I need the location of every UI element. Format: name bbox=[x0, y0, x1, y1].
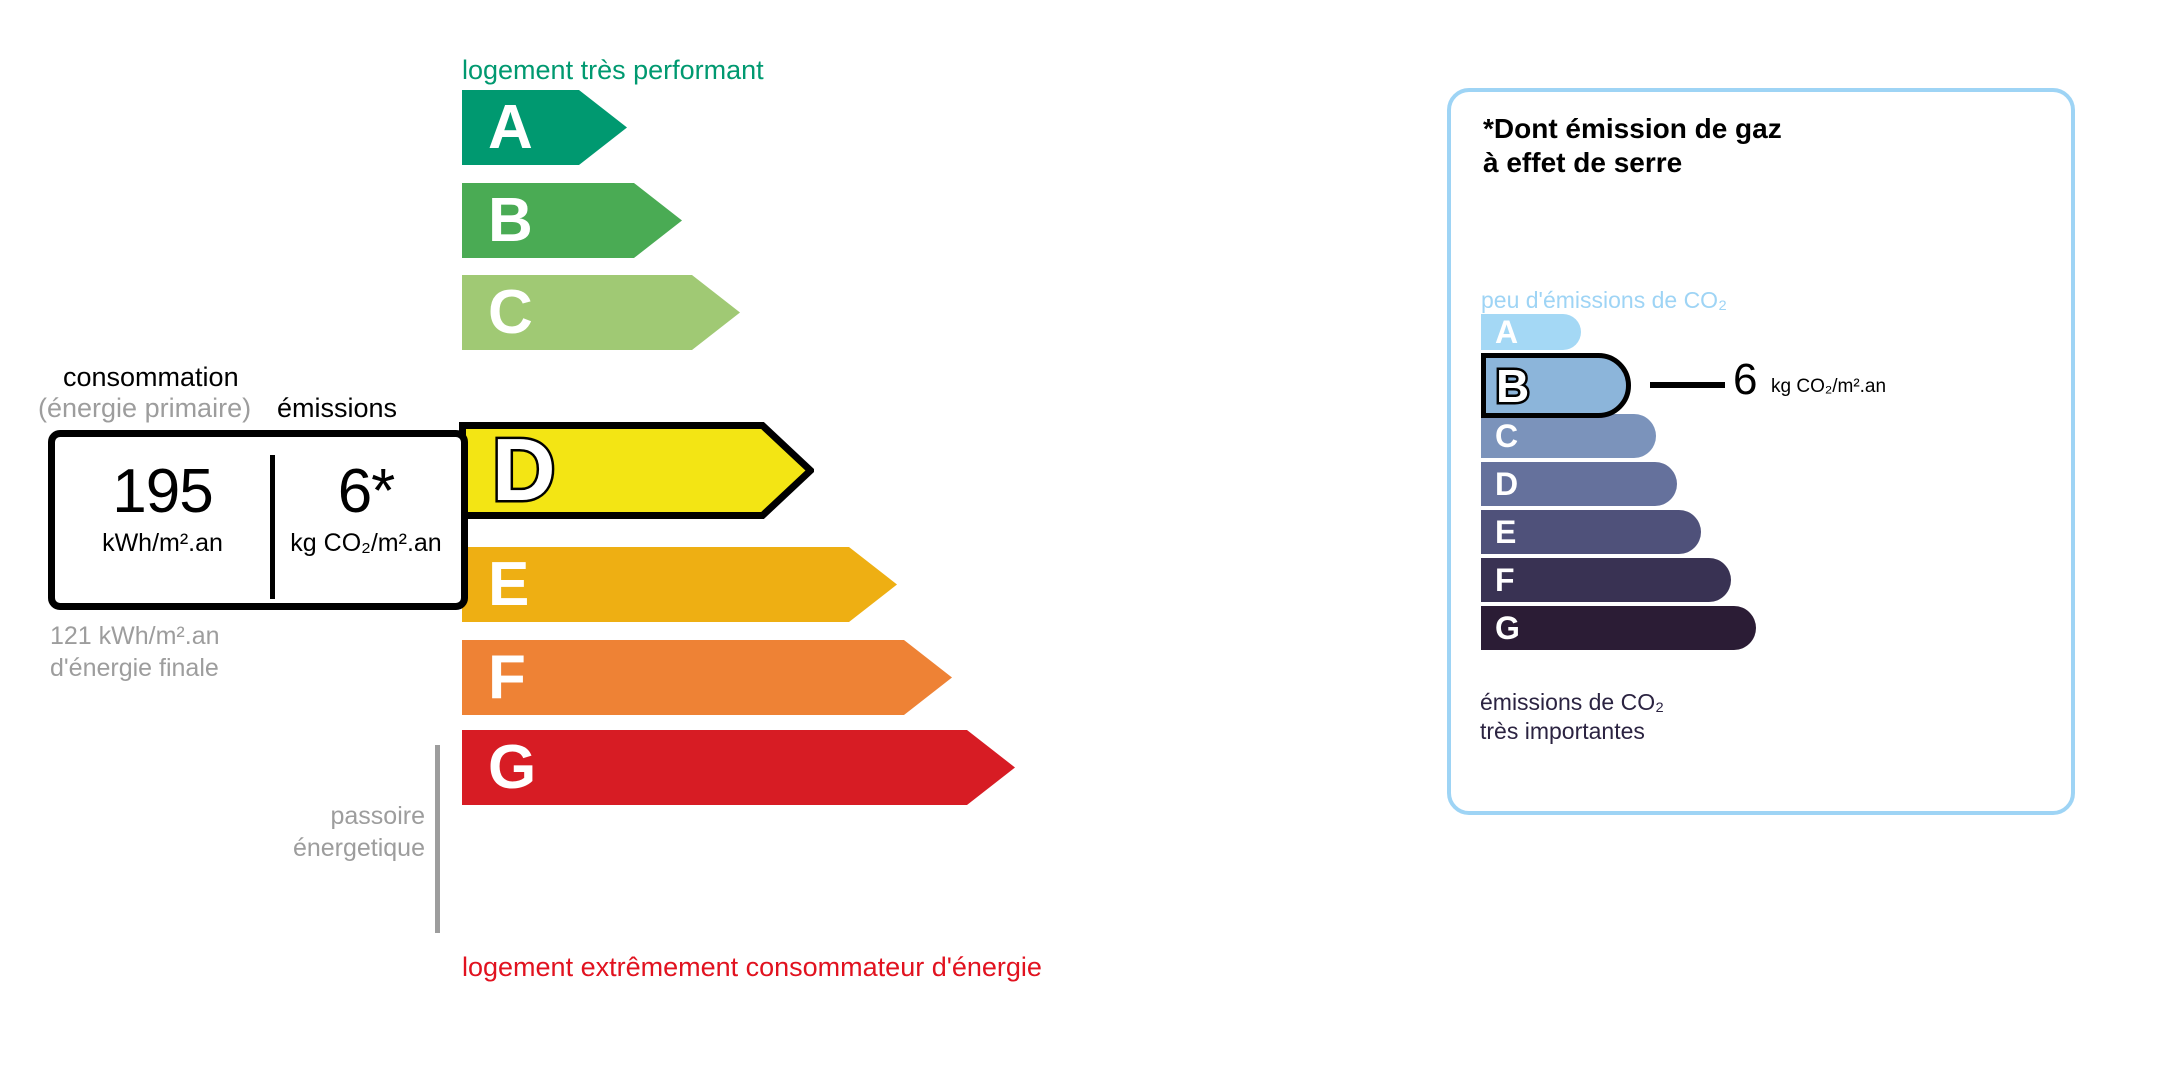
energy-class-row-f: F bbox=[462, 640, 952, 715]
co2-class-row-a: A bbox=[1481, 314, 1581, 350]
co2-value-unit: kg CO₂/m².an bbox=[1771, 376, 1886, 398]
energy-class-letter-a: A bbox=[488, 97, 533, 159]
co2-bottom-line-2: très importantes bbox=[1480, 717, 1664, 746]
energie-finale-text: d'énergie finale bbox=[50, 652, 220, 684]
co2-class-row-f: F bbox=[1481, 558, 1731, 602]
emission-value-cell: 6* kg CO₂/m².an bbox=[271, 455, 461, 558]
energy-top-caption: logement très performant bbox=[462, 55, 764, 86]
co2-title-line-1: *Dont émission de gaz bbox=[1483, 112, 1782, 146]
energy-performance-diagram: logement très performant ABCDEFG logemen… bbox=[0, 0, 1400, 1079]
co2-bottom-line-1: émissions de CO₂ bbox=[1480, 688, 1664, 717]
co2-class-letter-e: E bbox=[1495, 516, 1516, 548]
consumption-unit: kWh/m².an bbox=[55, 530, 270, 558]
co2-class-letter-b: B bbox=[1496, 363, 1529, 409]
emission-unit: kg CO₂/m².an bbox=[271, 530, 461, 558]
passoire-line-2: énergetique bbox=[210, 832, 425, 864]
energy-class-letter-f: F bbox=[488, 647, 526, 709]
co2-emissions-panel: *Dont émission de gaz à effet de serre p… bbox=[1447, 88, 2075, 815]
co2-value: 6 bbox=[1733, 358, 1757, 402]
energy-class-row-g: G bbox=[462, 730, 1015, 805]
co2-leader-line bbox=[1650, 382, 1725, 388]
co2-class-row-g: G bbox=[1481, 606, 1756, 650]
passoire-indicator-bar bbox=[435, 745, 440, 933]
co2-class-letter-c: C bbox=[1495, 420, 1518, 452]
co2-class-letter-g: G bbox=[1495, 612, 1520, 644]
label-emissions: émissions bbox=[277, 393, 397, 424]
arrow-shape-f bbox=[462, 640, 952, 715]
label-energie-finale: 121 kWh/m².an d'énergie finale bbox=[50, 620, 220, 684]
energy-class-letter-d: D bbox=[492, 426, 556, 514]
co2-class-row-b: B bbox=[1481, 353, 1631, 418]
energy-class-letter-g: G bbox=[488, 737, 536, 799]
co2-bottom-caption: émissions de CO₂ très importantes bbox=[1480, 688, 1664, 747]
arrow-shape-a bbox=[462, 90, 627, 165]
energy-class-letter-b: B bbox=[488, 190, 533, 252]
consumption-value-cell: 195 kWh/m².an bbox=[55, 455, 270, 558]
arrow-shape-g bbox=[462, 730, 1015, 805]
co2-class-letter-a: A bbox=[1495, 316, 1518, 348]
co2-class-row-c: C bbox=[1481, 414, 1656, 458]
co2-class-row-e: E bbox=[1481, 510, 1701, 554]
co2-top-caption: peu d'émissions de CO₂ bbox=[1481, 287, 1727, 314]
passoire-line-1: passoire bbox=[210, 800, 425, 832]
co2-class-row-d: D bbox=[1481, 462, 1677, 506]
co2-class-letter-f: F bbox=[1495, 564, 1515, 596]
label-passoire-energetique: passoire énergetique bbox=[210, 800, 425, 864]
energy-class-row-d: D bbox=[462, 425, 810, 515]
co2-title-line-2: à effet de serre bbox=[1483, 146, 1782, 180]
energy-class-row-c: C bbox=[462, 275, 740, 350]
energy-class-letter-e: E bbox=[488, 554, 529, 616]
label-energie-primaire: (énergie primaire) bbox=[38, 393, 251, 424]
consumption-value: 195 bbox=[55, 455, 270, 528]
energy-class-row-b: B bbox=[462, 183, 682, 258]
energy-value-box: 195 kWh/m².an 6* kg CO₂/m².an bbox=[48, 430, 468, 610]
energy-bottom-caption: logement extrêmement consommateur d'éner… bbox=[462, 952, 1042, 983]
energy-class-letter-c: C bbox=[488, 282, 533, 344]
energie-finale-value: 121 kWh/m².an bbox=[50, 620, 220, 652]
label-consommation: consommation bbox=[63, 362, 239, 393]
energy-class-row-a: A bbox=[462, 90, 627, 165]
co2-panel-title: *Dont émission de gaz à effet de serre bbox=[1483, 112, 1782, 181]
co2-class-letter-d: D bbox=[1495, 468, 1518, 500]
emission-value: 6* bbox=[271, 455, 461, 528]
energy-class-row-e: E bbox=[462, 547, 897, 622]
